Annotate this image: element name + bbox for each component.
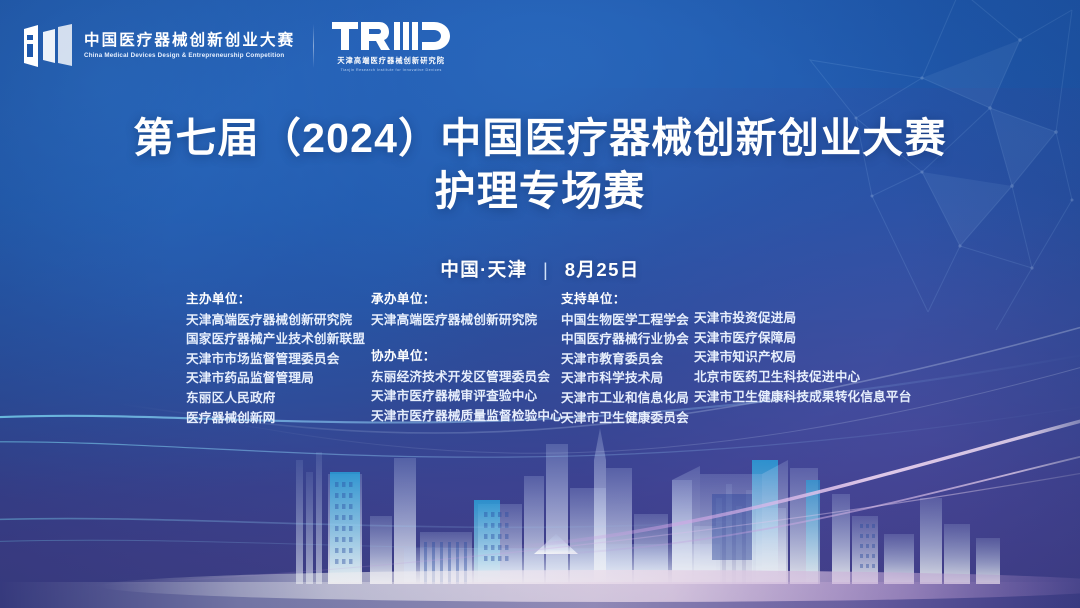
org-group-title: 主办单位：: [186, 290, 371, 310]
institute-logo-en: Tianjin Research Institute for Innovativ…: [341, 68, 442, 72]
column-header-spacer: [694, 290, 912, 309]
org-item: 天津市医疗保障局: [694, 329, 912, 349]
logo-row: 中国医疗器械创新创业大赛 China Medical Devices Desig…: [22, 20, 450, 72]
title-line-1: 第七届（2024）中国医疗器械创新创业大赛: [133, 115, 946, 161]
org-item: 天津市药品监督管理局: [186, 369, 371, 389]
date-text: 8月25日: [565, 259, 640, 280]
org-item: 天津市医疗器械质量监督检验中心: [371, 407, 561, 427]
org-group-support: 支持单位： 中国生物医学工程学会 中国医疗器械行业协会 天津市教育委员会 天津市…: [561, 290, 694, 428]
org-group-host: 主办单位： 天津高端医疗器械创新研究院 国家医疗器械产业技术创新联盟 天津市市场…: [186, 290, 371, 428]
org-group-title: 协办单位：: [371, 347, 561, 367]
org-item: 天津市投资促进局: [694, 309, 912, 329]
org-group-undertake: 承办单位： 天津高端医疗器械创新研究院: [371, 290, 561, 330]
org-item: 中国生物医学工程学会: [561, 311, 694, 331]
org-item: 天津市工业和信息化局: [561, 389, 694, 409]
org-item: 医疗器械创新网: [186, 409, 371, 429]
org-item: 天津高端医疗器械创新研究院: [186, 311, 371, 331]
org-group-title: 支持单位：: [561, 290, 694, 310]
org-group-support-continued: 天津市投资促进局 天津市医疗保障局 天津市知识产权局 北京市医药卫生科技促进中心…: [694, 290, 912, 407]
poster-title: 第七届（2024）中国医疗器械创新创业大赛 护理专场赛: [0, 112, 1080, 219]
org-item: 天津市卫生健康科技成果转化信息平台: [694, 388, 912, 408]
institute-logo[interactable]: 天津高端医疗器械创新研究院 Tianjin Research Institute…: [332, 20, 450, 72]
org-group-title: 承办单位：: [371, 290, 561, 310]
org-item: 中国医疗器械行业协会: [561, 330, 694, 350]
org-item: 东丽经济技术开发区管理委员会: [371, 368, 561, 388]
triid-wordmark-icon: [332, 20, 450, 52]
org-item: 国家医疗器械产业技术创新联盟: [186, 330, 371, 350]
org-item: 北京市医药卫生科技促进中心: [694, 368, 912, 388]
org-item: 东丽区人民政府: [186, 389, 371, 409]
org-item: 天津市市场监督管理委员会: [186, 350, 371, 370]
datebar-separator: |: [543, 259, 549, 281]
competition-logo-en: China Medical Devices Design & Entrepren…: [84, 52, 299, 60]
org-item: 天津高端医疗器械创新研究院: [371, 311, 561, 331]
institute-logo-zh: 天津高端医疗器械创新研究院: [337, 56, 445, 66]
org-item: 天津市教育委员会: [561, 350, 694, 370]
logo-divider: [313, 24, 314, 68]
org-group-coorganise: 协办单位： 东丽经济技术开发区管理委员会 天津市医疗器械审评查验中心 天津市医疗…: [371, 347, 561, 426]
org-item: 天津市科学技术局: [561, 369, 694, 389]
org-item: 天津市卫生健康委员会: [561, 409, 694, 429]
title-line-2: 护理专场赛: [0, 165, 1080, 218]
location-date-bar: 中国·天津 | 8月25日: [0, 256, 1080, 282]
open-door-logo-icon: [22, 23, 74, 69]
org-column-host: 主办单位： 天津高端医疗器械创新研究院 国家医疗器械产业技术创新联盟 天津市市场…: [186, 290, 371, 428]
org-item: 天津市知识产权局: [694, 348, 912, 368]
org-column-support-continued: 天津市投资促进局 天津市医疗保障局 天津市知识产权局 北京市医药卫生科技促进中心…: [694, 290, 912, 407]
org-item: 天津市医疗器械审评查验中心: [371, 387, 561, 407]
poster-canvas: 中国医疗器械创新创业大赛 China Medical Devices Desig…: [0, 0, 1080, 608]
organiser-block: 主办单位： 天津高端医疗器械创新研究院 国家医疗器械产业技术创新联盟 天津市市场…: [186, 290, 1010, 428]
competition-logo-zh: 中国医疗器械创新创业大赛: [84, 32, 295, 50]
org-column-undertake: 承办单位： 天津高端医疗器械创新研究院 协办单位： 东丽经济技术开发区管理委员会…: [371, 290, 561, 427]
location-text: 中国·天津: [440, 259, 527, 280]
competition-logo[interactable]: 中国医疗器械创新创业大赛 China Medical Devices Desig…: [22, 23, 295, 69]
org-column-support: 支持单位： 中国生物医学工程学会 中国医疗器械行业协会 天津市教育委员会 天津市…: [561, 290, 694, 428]
